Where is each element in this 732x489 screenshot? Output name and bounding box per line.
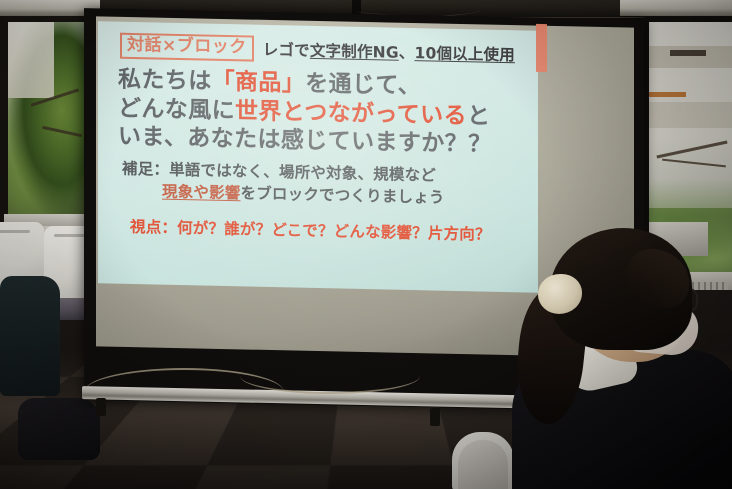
viewpoint-item-3: どんな影響？ <box>334 223 428 243</box>
viewpoint-item-2: どこで？ <box>271 221 333 240</box>
note-part-0: レゴで <box>263 41 310 60</box>
building-detail <box>670 50 706 56</box>
classroom-photo: 対話×ブロック レゴで文字制作NG、10個以上使用 私たちは「商品」を通じて、 … <box>0 0 732 489</box>
slide-supplement-block: 補足：単語ではなく、場所や対象、規模など 現象や影響をブロックでつくりましょう <box>122 159 526 211</box>
bare-branch <box>656 141 727 159</box>
left-window-building <box>6 20 54 98</box>
floor-bag-teal <box>0 276 60 396</box>
supplement-text-2: をブロックでつくりましょう <box>241 184 445 206</box>
foreground-chair-inner <box>458 440 508 489</box>
projected-slide: 対話×ブロック レゴで文字制作NG、10個以上使用 私たちは「商品」を通じて、 … <box>98 21 538 293</box>
slide-question-block: 私たちは「商品」を通じて、 どんな風に世界とつながっていると いま、あなたは感じ… <box>118 66 526 160</box>
student-seated <box>520 232 732 489</box>
q2-seg-1: 世界とつながっている <box>235 98 467 129</box>
q1-seg-1: 「商品」 <box>212 69 306 97</box>
viewpoint-label: 視点： <box>130 218 177 237</box>
slide-header-note: レゴで文字制作NG、10個以上使用 <box>263 38 515 66</box>
supplement-text-1: 単語ではなく、場所や対象、規模など <box>169 161 436 185</box>
slide-header-row: 対話×ブロック レゴで文字制作NG、10個以上使用 <box>120 33 526 68</box>
viewpoint-item-1: 誰が？ <box>224 220 271 239</box>
screen-leg <box>96 398 106 416</box>
slide-accent-bar <box>536 24 547 72</box>
slide-viewpoint-line: 視点：何が？誰が？どこで？どんな影響？片方向？ <box>130 215 526 246</box>
slide-badge: 対話×ブロック <box>120 33 254 62</box>
viewpoint-item-0: 何が？ <box>177 219 224 238</box>
note-part-2: 、 <box>399 44 415 62</box>
supplement-highlight: 現象や影響 <box>162 182 241 202</box>
screen-leg <box>430 408 440 426</box>
note-part-3: 10個以上使用 <box>414 44 514 64</box>
chair-handle-slot <box>0 230 30 233</box>
q2-seg-2: と <box>467 103 490 130</box>
q2-seg-0: どんな風に <box>118 96 235 125</box>
q1-seg-0: 私たちは <box>118 67 212 95</box>
floor-bag-black <box>18 398 100 460</box>
supplement-label: 補足： <box>122 160 169 179</box>
bare-branch <box>662 159 726 168</box>
chair-handle-slot <box>54 234 88 237</box>
viewpoint-item-4: 片方向？ <box>428 225 491 244</box>
note-part-1: 文字制作NG <box>310 42 399 62</box>
building-detail <box>646 92 686 97</box>
window-frame <box>0 16 8 230</box>
q1-seg-2: を通じて、 <box>305 71 421 100</box>
